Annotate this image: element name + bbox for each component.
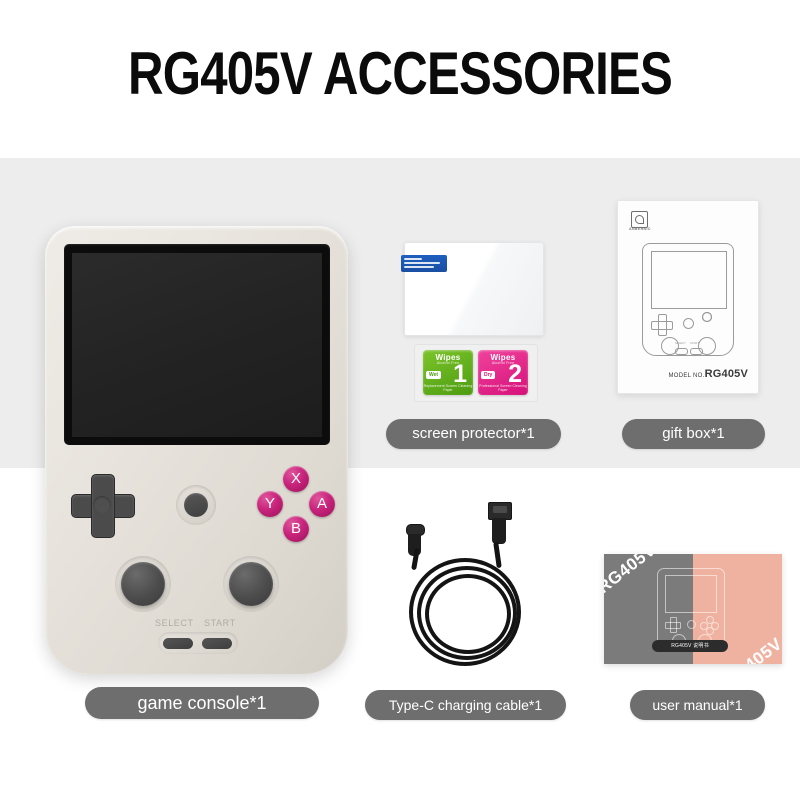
manual-illustration-dpad-icon xyxy=(665,617,679,631)
wipes-tray: Wipes Alcohol Free Wet 1 Replacement Scr… xyxy=(414,344,538,402)
page-title: RG405V ACCESSORIES xyxy=(72,44,728,104)
manual-dpad-v xyxy=(670,617,677,633)
face-button-cluster: X Y A B xyxy=(257,466,335,542)
illustration-start-label: START xyxy=(690,341,699,345)
anbernic-brand-text: ANBERNIC xyxy=(629,227,651,231)
right-stick-cap xyxy=(229,562,273,606)
anbernic-logo-mark xyxy=(631,211,648,228)
wet-wipe-tag: Wet xyxy=(426,371,441,379)
illustration-dpad-v xyxy=(658,314,667,336)
console-screen xyxy=(72,253,322,437)
home-button-ring[interactable] xyxy=(176,485,216,525)
illustration-face-buttons xyxy=(702,312,726,336)
illustration-dpad-icon xyxy=(651,314,671,334)
dpad-hub xyxy=(93,496,111,514)
user-manual: RG405V 说明书 RG405V RG405V xyxy=(604,554,782,664)
left-stick-cap xyxy=(121,562,165,606)
illustration-screen xyxy=(651,251,727,309)
tempered-glass-sheet xyxy=(404,242,544,336)
cable-loop-inner xyxy=(425,574,511,654)
manual-cover-bar: RG405V 说明书 xyxy=(652,640,728,652)
manual-illustration-face-buttons xyxy=(700,616,717,633)
illustration-select-label: SELECT xyxy=(675,341,686,345)
game-console: X Y A B SELECT START xyxy=(45,226,348,674)
sticker-line-2 xyxy=(404,262,440,264)
button-b[interactable]: B xyxy=(283,516,309,542)
select-start-labels: SELECT START xyxy=(155,618,245,632)
button-x[interactable]: X xyxy=(283,466,309,492)
product-accessories-layout: RG405V ACCESSORIES X Y A B SELECT xyxy=(0,0,800,800)
illustration-select-start: SELECT START xyxy=(675,345,703,353)
illustration-home-button xyxy=(683,318,694,329)
wet-wipe-packet: Wipes Alcohol Free Wet 1 Replacement Scr… xyxy=(423,350,473,395)
button-a[interactable]: A xyxy=(309,491,335,517)
dpad-icon[interactable] xyxy=(71,474,133,536)
right-analog-stick[interactable] xyxy=(223,556,279,612)
anbernic-logo-icon: ANBERNIC xyxy=(629,211,655,233)
illustration-button-b xyxy=(702,312,712,322)
select-button[interactable] xyxy=(163,638,193,649)
label-charging-cable: Type-C charging cable*1 xyxy=(365,690,566,720)
left-analog-stick[interactable] xyxy=(115,556,171,612)
model-label: MODEL NO. xyxy=(668,373,704,379)
label-user-manual: user manual*1 xyxy=(630,690,765,720)
dry-wipe-tag: Dry xyxy=(481,371,495,379)
dry-wipe-packet: Wipes Alcohol Free Dry 2 Professional Sc… xyxy=(478,350,528,395)
gift-box: ANBERNIC SELECT START xyxy=(617,200,759,394)
screen-protector: Wipes Alcohol Free Wet 1 Replacement Scr… xyxy=(398,228,548,403)
select-label: SELECT xyxy=(155,618,194,628)
dry-wipe-footer: Professional Screen Cleaning Paper xyxy=(478,384,528,392)
cable-strand-right xyxy=(493,542,502,568)
manual-illustration-screen xyxy=(665,575,717,613)
label-screen-protector: screen protector*1 xyxy=(386,419,561,449)
button-y[interactable]: Y xyxy=(257,491,283,517)
label-gift-box: gift box*1 xyxy=(622,419,765,449)
illustration-select-button xyxy=(675,348,688,355)
gift-box-model: MODEL NO.RG405V xyxy=(668,364,748,382)
sticker-line-3 xyxy=(404,266,434,268)
instruction-sticker-icon xyxy=(401,255,447,272)
start-button[interactable] xyxy=(202,638,232,649)
console-screen-bezel xyxy=(64,244,330,445)
label-game-console: game console*1 xyxy=(85,687,319,719)
illustration-start-button xyxy=(690,348,703,355)
type-c-charging-cable xyxy=(383,498,543,668)
usb-a-neck xyxy=(492,518,506,544)
home-button[interactable] xyxy=(184,493,208,517)
wet-wipe-footer: Replacement Screen Cleaning Paper xyxy=(423,384,473,392)
gift-box-console-illustration: SELECT START xyxy=(642,243,734,356)
select-start-pad xyxy=(158,632,238,654)
start-label: START xyxy=(204,618,236,628)
model-value: RG405V xyxy=(705,368,748,380)
manual-illustration-home xyxy=(687,620,696,629)
sticker-line-1 xyxy=(404,258,422,260)
